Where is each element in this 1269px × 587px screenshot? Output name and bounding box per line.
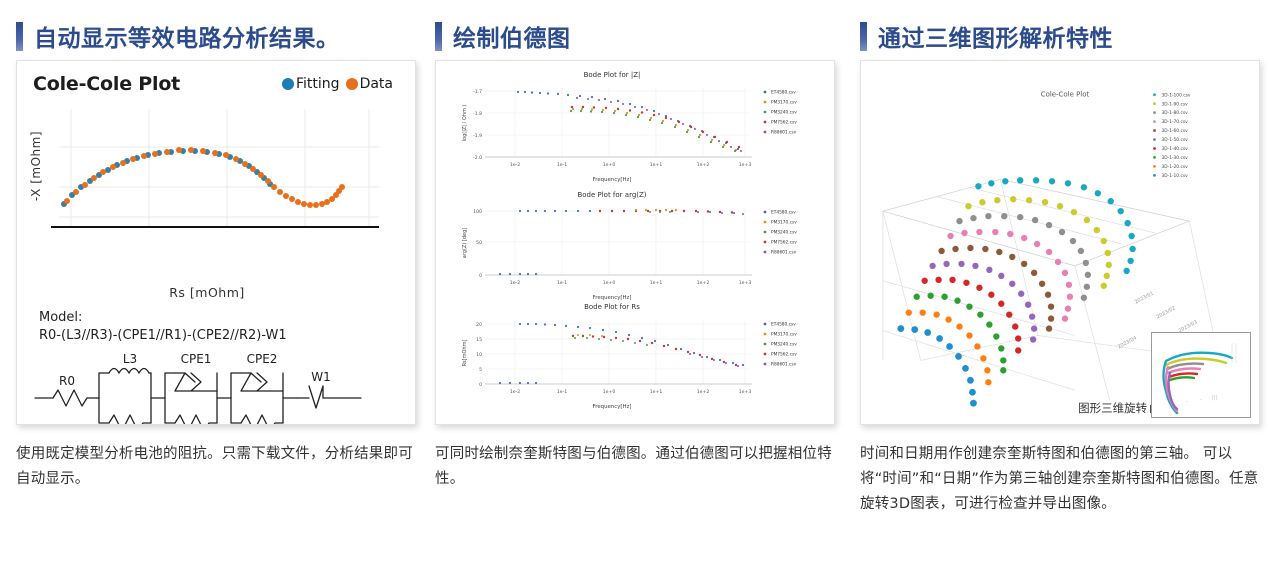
svg-text:ET4580.csv: ET4580.csv — [771, 210, 796, 216]
svg-text:-1.8: -1.8 — [473, 111, 482, 117]
svg-text:10: 10 — [476, 352, 482, 358]
cole-cole-header: Cole-Cole Plot Fitting Data — [33, 73, 403, 103]
bode-plot-arg-z: Bode Plot for arg(Z) 100500 1e-21e-1 1e+… — [462, 191, 797, 301]
svg-text:1e+0: 1e+0 — [603, 280, 616, 286]
circuit-svg: R0 L3 R3 CPE1 R1 CPE2 R2 W1 — [31, 353, 381, 425]
equivalent-circuit-diagram: R0 L3 R3 CPE1 R1 CPE2 R2 W1 — [31, 353, 381, 425]
circuit-label-r0: R0 — [59, 374, 75, 388]
legend-item-data: Data — [346, 76, 393, 92]
section-heading-1: 自动显示等效电路分析结果。 — [16, 12, 416, 60]
svg-text:1e+1: 1e+1 — [650, 162, 663, 168]
svg-text:1e-2: 1e-2 — [510, 280, 520, 286]
svg-text:ET4580.csv: ET4580.csv — [771, 90, 796, 96]
model-label: Model: — [39, 309, 287, 327]
section-heading-2: 绘制伯德图 — [435, 12, 835, 60]
svg-text:1e+1: 1e+1 — [650, 389, 663, 395]
svg-text:100: 100 — [473, 209, 482, 215]
circuit-label-l3: L3 — [123, 353, 137, 366]
svg-text:3D-1-20.csv: 3D-1-20.csv — [1161, 164, 1188, 170]
svg-text:PM3170.csv: PM3170.csv — [771, 100, 797, 106]
svg-text:PM3240.csv: PM3240.csv — [771, 230, 797, 236]
bode-z-legend: ET4580.csv PM3170.csv PM3240.csv PM7562.… — [764, 90, 798, 136]
circuit-label-r3: R3 — [122, 422, 138, 425]
bode-arg-title: Bode Plot for arg(Z) — [577, 191, 646, 199]
svg-text:PM3170.csv: PM3170.csv — [771, 332, 797, 338]
bode-rs-ylabel: Rs[mOhm] — [462, 340, 468, 367]
svg-text:-: - — [1200, 397, 1202, 403]
cole-cole-legend: Fitting Data — [282, 76, 393, 92]
feature-column-3: 通过三维图形解析特性 Cole-Cole Plot — [860, 0, 1260, 587]
svg-text:PM7562.csv: PM7562.csv — [771, 120, 797, 126]
circuit-label-r1: R1 — [188, 422, 204, 425]
bode-rs-xlabel: Frequency[Hz] — [593, 404, 632, 410]
svg-text:1e+3: 1e+3 — [739, 389, 752, 395]
plot3d-preview-inset[interactable]: --- ||| — [1151, 332, 1251, 418]
svg-text:R88601.csv: R88601.csv — [771, 362, 797, 368]
svg-text:PM3240.csv: PM3240.csv — [771, 110, 797, 116]
bode-plots-svg: Bode Plot for |Z| -1.7-1.8 -1.9-2.0 — [436, 61, 834, 424]
legend-swatch-fitting — [282, 78, 294, 90]
bode-z-points — [517, 91, 742, 152]
cole-cole-data-points — [64, 147, 345, 208]
svg-text:ET4580.csv: ET4580.csv — [771, 322, 796, 328]
bode-plot-rs: Bode Plot for Rs 2015 1050 1e-21e — [462, 303, 797, 410]
svg-text:3D-1-100.csv: 3D-1-100.csv — [1161, 92, 1190, 98]
svg-text:PM7562.csv: PM7562.csv — [771, 352, 797, 358]
bode-plots-card: Bode Plot for |Z| -1.7-1.8 -1.9-2.0 — [435, 60, 835, 425]
svg-text:0: 0 — [479, 273, 482, 279]
legend-label-data: Data — [360, 76, 393, 92]
svg-text:-: - — [1186, 399, 1188, 405]
bode-z-title: Bode Plot for |Z| — [584, 71, 641, 79]
svg-text:-1.7: -1.7 — [473, 89, 482, 95]
circuit-label-w1: W1 — [311, 370, 331, 384]
feature-caption-3: 时间和日期用作创建奈奎斯特图和伯德图的第三轴。 可以将“时间”和“日期”作为第三… — [860, 442, 1260, 517]
svg-text:PM3240.csv: PM3240.csv — [771, 342, 797, 348]
svg-text:2023/01: 2023/01 — [1134, 290, 1155, 305]
svg-text:-: - — [1172, 397, 1174, 403]
svg-text:3D-1-90.csv: 3D-1-90.csv — [1161, 101, 1188, 107]
bode-z-ylabel: log(|Z| / Ohm ) — [462, 105, 468, 142]
section-heading-1-text: 自动显示等效电路分析结果。 — [34, 19, 340, 53]
section-heading-2-text: 绘制伯德图 — [453, 19, 571, 53]
circuit-label-cpe2: CPE2 — [247, 353, 278, 366]
heading-accent-bar — [860, 22, 867, 51]
heading-accent-bar — [16, 22, 23, 51]
svg-text:20: 20 — [476, 322, 482, 328]
heading-accent-bar — [435, 22, 442, 51]
page-root: 自动显示等效电路分析结果。 Cole-Cole Plot Fitting Dat… — [0, 0, 1269, 587]
bode-rs-title: Bode Plot for Rs — [584, 303, 640, 311]
svg-text:1e+2: 1e+2 — [697, 280, 710, 286]
cole-cole-x-axis-label: Rs [mOhm] — [31, 285, 383, 300]
svg-text:1e-1: 1e-1 — [557, 162, 567, 168]
feature-caption-2: 可同时绘制奈奎斯特图与伯德图。通过伯德图可以把握相位特性。 — [435, 442, 835, 492]
section-heading-3-text: 通过三维图形解析特性 — [878, 19, 1113, 53]
svg-text:5: 5 — [479, 367, 482, 373]
svg-text:3D-1-60.csv: 3D-1-60.csv — [1161, 128, 1188, 134]
svg-text:-1.9: -1.9 — [473, 133, 482, 139]
svg-text:1e-2: 1e-2 — [510, 389, 520, 395]
legend-item-fitting: Fitting — [282, 76, 340, 92]
bode-z-xlabel: Frequency[Hz] — [593, 177, 632, 183]
svg-text:1e-1: 1e-1 — [557, 389, 567, 395]
bode-arg-xlabel: Frequency[Hz] — [593, 295, 632, 301]
svg-text:1e+0: 1e+0 — [603, 389, 616, 395]
plot3d-title: Cole-Cole Plot — [1041, 91, 1090, 99]
bode-arg-ylabel: arg(Z) [deg] — [462, 228, 468, 258]
svg-text:3D-1-50.csv: 3D-1-50.csv — [1161, 137, 1188, 143]
circuit-label-r2: R2 — [254, 422, 270, 425]
cole-cole-card: Cole-Cole Plot Fitting Data -X [mOhm] — [16, 60, 416, 425]
model-expression: R0-(L3//R3)-(CPE1//R1)-(CPE2//R2)-W1 — [39, 327, 287, 345]
plot3d-card: Cole-Cole Plot — [860, 60, 1260, 425]
svg-text:3D-1-40.csv: 3D-1-40.csv — [1161, 146, 1188, 152]
section-heading-3: 通过三维图形解析特性 — [860, 12, 1260, 60]
svg-text:3D-1-80.csv: 3D-1-80.csv — [1161, 110, 1188, 116]
circuit-label-cpe1: CPE1 — [181, 353, 212, 366]
bode-rs-points — [499, 323, 744, 384]
svg-text:15: 15 — [476, 337, 482, 343]
legend-label-fitting: Fitting — [296, 76, 340, 92]
svg-text:1e+0: 1e+0 — [603, 162, 616, 168]
bode-arg-legend: ET4580.csv PM3170.csv PM3240.csv PM7562.… — [764, 210, 798, 256]
svg-text:1e+2: 1e+2 — [697, 162, 710, 168]
svg-text:1e-1: 1e-1 — [557, 280, 567, 286]
svg-text:3D-1-10.csv: 3D-1-10.csv — [1161, 173, 1188, 179]
bode-plot-abs-z: Bode Plot for |Z| -1.7-1.8 -1.9-2.0 — [462, 71, 797, 183]
svg-text:-2.0: -2.0 — [473, 155, 482, 161]
feature-column-2: 绘制伯德图 Bode Plot for |Z| -1.7-1.8 — [435, 0, 835, 587]
svg-text:3D-1-30.csv: 3D-1-30.csv — [1161, 155, 1188, 161]
svg-text:3D-1-70.csv: 3D-1-70.csv — [1161, 119, 1188, 125]
svg-text:|||: ||| — [1212, 395, 1217, 401]
feature-caption-1: 使用既定模型分析电池的阻抗。只需下载文件，分析结果即可自动显示。 — [16, 442, 416, 492]
bode-rs-legend: ET4580.csv PM3170.csv PM3240.csv PM7562.… — [764, 322, 798, 368]
svg-text:1e+3: 1e+3 — [739, 280, 752, 286]
plot3d-rotate-label: 图形三维旋转 — [1078, 400, 1147, 416]
plot3d-inset-svg: --- ||| — [1152, 333, 1250, 417]
svg-text:PM7562.csv: PM7562.csv — [771, 240, 797, 246]
model-description: Model: R0-(L3//R3)-(CPE1//R1)-(CPE2//R2)… — [39, 309, 287, 345]
svg-text:R88601.csv: R88601.csv — [771, 130, 797, 136]
svg-text:1e+2: 1e+2 — [697, 389, 710, 395]
svg-text:1e-2: 1e-2 — [510, 162, 520, 168]
legend-swatch-data — [346, 78, 358, 90]
cole-cole-plot: -X [mOhm] — [31, 109, 383, 234]
svg-text:1e+3: 1e+3 — [739, 162, 752, 168]
svg-text:PM3170.csv: PM3170.csv — [771, 220, 797, 226]
svg-text:1e+1: 1e+1 — [650, 280, 663, 286]
svg-text:50: 50 — [476, 240, 482, 246]
svg-text:0: 0 — [479, 382, 482, 388]
svg-text:2023/02: 2023/02 — [1156, 305, 1177, 320]
plot3d-legend: 3D-1-100.csv 3D-1-90.csv 3D-1-80.csv 3D-… — [1153, 92, 1191, 179]
cole-cole-scatter-svg — [31, 109, 383, 234]
plot3d-rotate-button[interactable]: 图形三维旋转 ▶ — [1078, 400, 1159, 416]
svg-text:R88601.csv: R88601.csv — [771, 250, 797, 256]
feature-column-1: 自动显示等效电路分析结果。 Cole-Cole Plot Fitting Dat… — [16, 0, 416, 587]
